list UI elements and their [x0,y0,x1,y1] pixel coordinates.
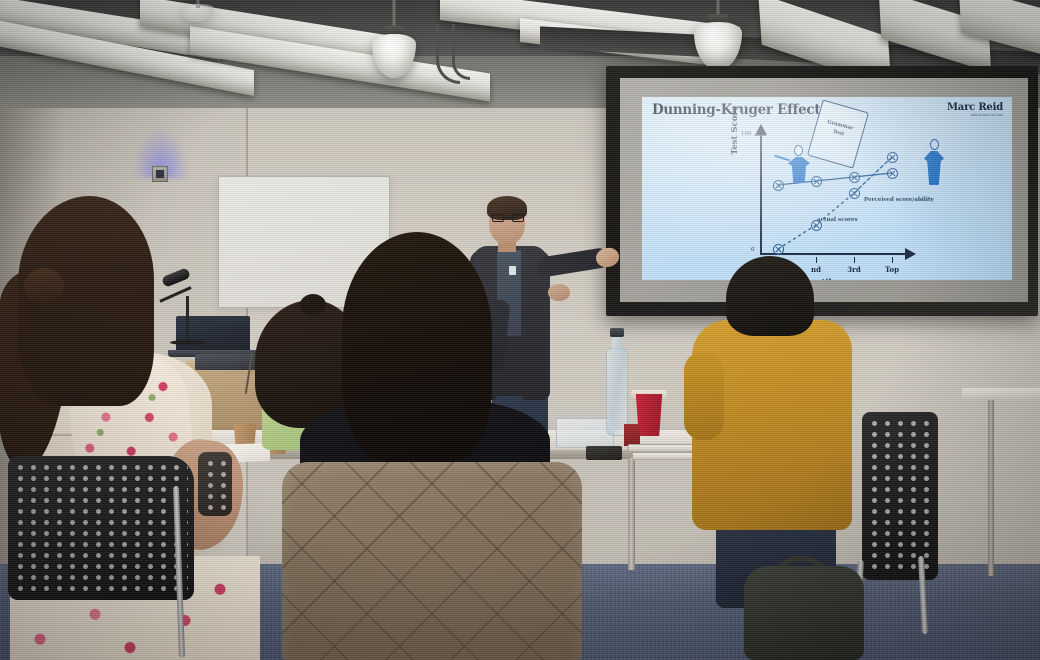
ceiling-duct-hook-2 [452,24,470,80]
dunning-kruger-chart: Test Score 100 0 nd 3rd Top Quartile [642,97,1012,280]
book-red [624,424,640,446]
novice-head [794,145,803,156]
paper-label-line2: Test [832,128,845,137]
projection-screen: Dunning-Kruger Effect Marc Reid www.dr-m… [606,66,1038,316]
table-leg-center [628,458,635,570]
screen-surface: Dunning-Kruger Effect Marc Reid www.dr-m… [642,97,1012,280]
data-point-perceived-2 [811,176,822,187]
side-table-leg [988,400,994,576]
annotation-actual-scores: actual scores [817,217,858,224]
presenter-badge [509,266,516,275]
attendee-black-hair [342,232,492,462]
chair-left-mesh [14,462,188,594]
glasses-lens-left [492,214,504,222]
mustard-hair [726,256,814,336]
microphone-stand [186,296,189,342]
annotation-perceived-score: Perceived score/ability [864,197,934,204]
glasses-bridge [504,217,512,218]
chair-center-mesh [204,458,226,510]
chair-center [198,452,232,516]
microphone-base [170,340,206,345]
chair-left [8,456,194,600]
data-point-actual-1 [773,244,784,255]
presenter-glasses [492,214,524,222]
water-bottle-cap [610,328,624,337]
data-point-perceived-1 [773,180,784,191]
side-table [962,388,1040,401]
data-point-perceived-3 [849,172,860,183]
screen-bezel: Dunning-Kruger Effect Marc Reid www.dr-m… [620,78,1028,302]
data-point-actual-4 [887,152,898,163]
expert-head [930,139,939,150]
lecture-room-photo: Dunning-Kruger Effect Marc Reid www.dr-m… [0,0,1040,660]
mustard-arm [684,352,724,440]
attendee-left-glasses [120,258,146,270]
quilted-jacket [282,462,582,660]
paper-label: Grammar Test [815,117,863,143]
ponytail-tie [24,268,64,304]
wall-sensor [152,166,168,182]
chair-right-mesh [868,418,932,574]
data-point-actual-3 [849,188,860,199]
dark-object [586,446,622,460]
attendee-green-bun [300,294,326,316]
backpack [744,566,864,660]
data-point-perceived-4 [887,168,898,179]
water-bottle [606,348,628,436]
chair-right [862,412,938,580]
presenter-hand [548,284,570,301]
glasses-lens-right [512,214,524,222]
